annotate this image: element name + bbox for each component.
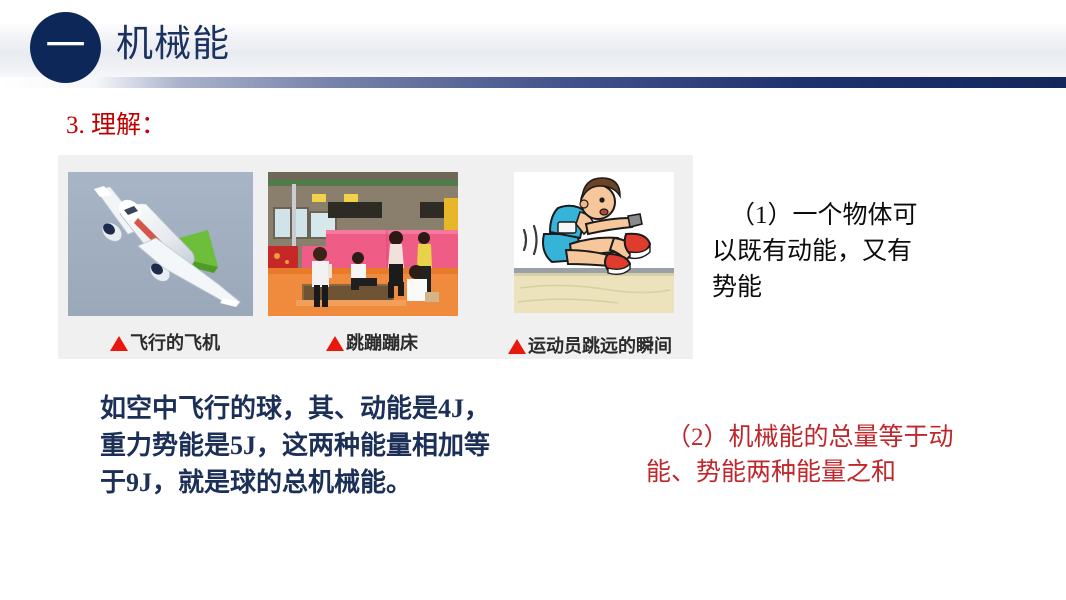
- note-one: （1）一个物体可 以既有动能，又有 势能: [712, 198, 1052, 306]
- note-one-line-3: 势能: [712, 270, 1052, 306]
- photo-cell-longjump: 运动员跳远的瞬间: [514, 172, 674, 313]
- example-line-1: 如空中飞行的球，其、动能是4J，: [100, 390, 600, 427]
- red-triangle-icon: [508, 339, 526, 354]
- photo-caption-airplane: 飞行的飞机: [110, 332, 220, 354]
- photo-caption-longjump-text: 运动员跳远的瞬间: [528, 336, 672, 356]
- photo-cell-airplane: 飞行的飞机: [68, 172, 253, 316]
- page-title: 机械能: [116, 20, 230, 70]
- section-number-badge: 一: [30, 12, 101, 83]
- trampoline-illustration: [268, 172, 458, 316]
- example-line-2: 重力势能是5J，这两种能量相加等: [100, 427, 600, 464]
- photo-caption-trampoline-text: 跳蹦蹦床: [346, 333, 418, 353]
- longjump-illustration: [514, 172, 674, 313]
- section-number-label: 一: [46, 26, 86, 66]
- red-triangle-icon: [326, 336, 344, 351]
- photo-caption-airplane-text: 飞行的飞机: [130, 333, 220, 353]
- photo-caption-trampoline: 跳蹦蹦床: [326, 332, 418, 354]
- image-strip-panel: 飞行的飞机: [58, 155, 693, 359]
- photo-caption-longjump: 运动员跳远的瞬间: [508, 335, 672, 357]
- section-heading: 3. 理解：: [66, 110, 166, 142]
- photo-cell-trampoline: 跳蹦蹦床: [268, 172, 458, 316]
- example-text: 如空中飞行的球，其、动能是4J， 重力势能是5J，这两种能量相加等 于9J，就是…: [100, 390, 600, 501]
- photo-airplane: [68, 172, 253, 316]
- note-one-line-1: （1）一个物体可: [712, 198, 1052, 234]
- photo-longjump: [514, 172, 674, 313]
- photo-trampoline: [268, 172, 458, 316]
- note-two-line-1: （2）机械能的总量等于动: [646, 420, 1046, 455]
- slide-header: 一 机械能: [0, 0, 1066, 92]
- red-triangle-icon: [110, 336, 128, 351]
- note-two-line-2: 能、势能两种能量之和: [646, 455, 1046, 490]
- note-two: （2）机械能的总量等于动 能、势能两种能量之和: [646, 420, 1046, 490]
- example-line-3: 于9J，就是球的总机械能。: [100, 464, 600, 501]
- note-one-line-2: 以既有动能，又有: [712, 234, 1052, 270]
- airplane-illustration: [68, 172, 253, 316]
- header-accent-rule: [0, 77, 1066, 88]
